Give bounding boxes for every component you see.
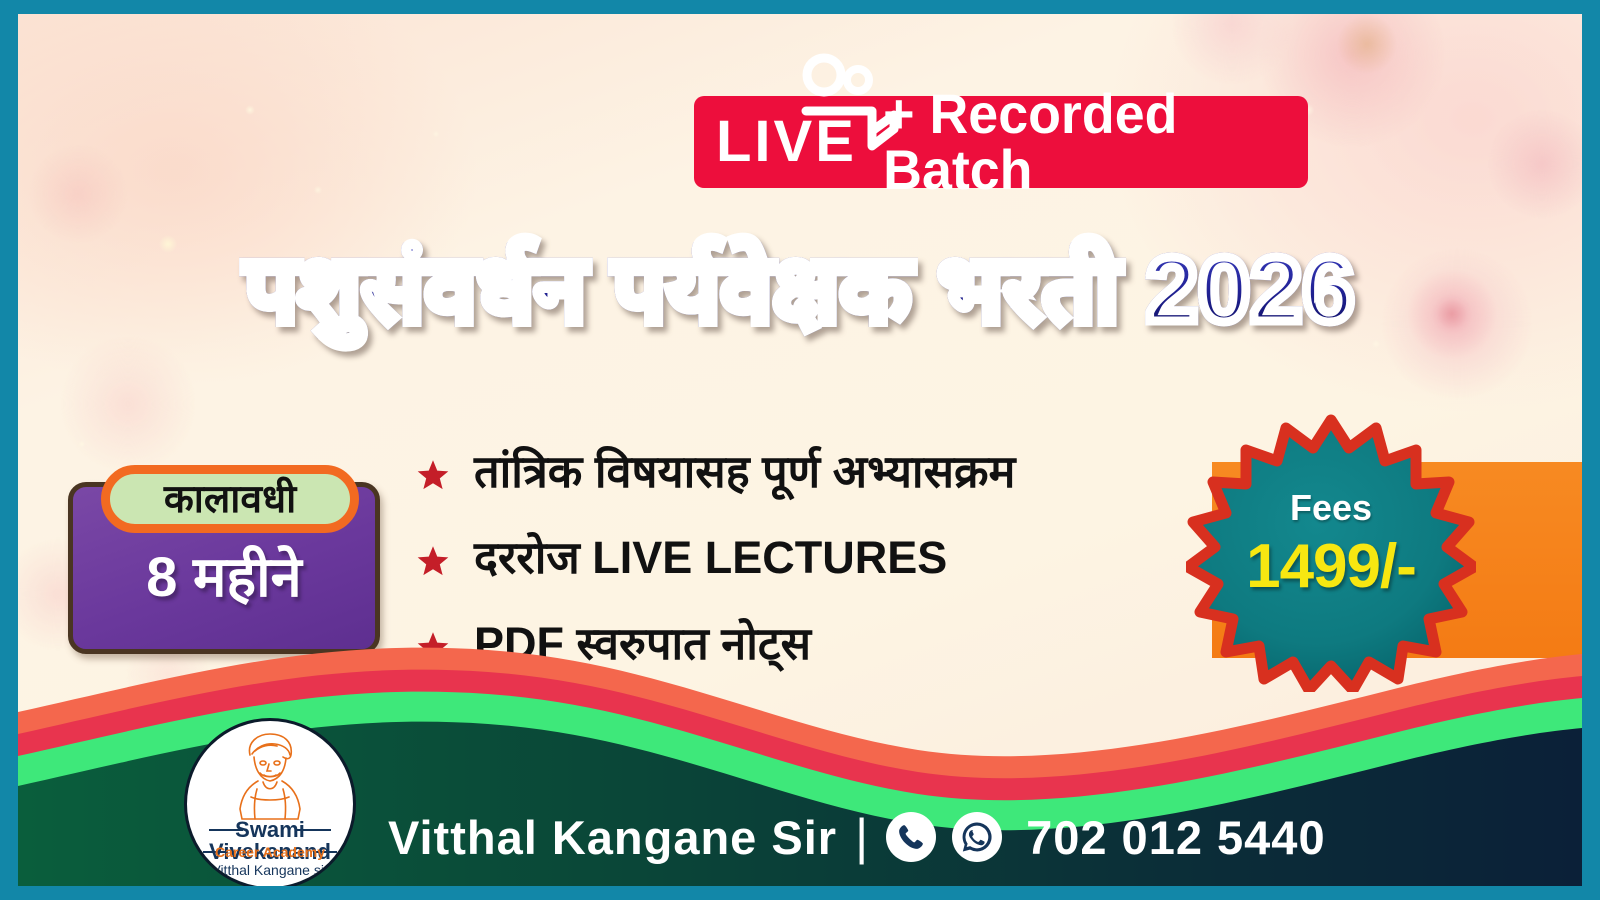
feature-text: दररोज LIVE LECTURES — [474, 532, 947, 584]
banner-canvas: LIVE + Recorded Batch पशुसंवर्धन पर्यवेक… — [18, 14, 1582, 886]
promo-banner: LIVE + Recorded Batch पशुसंवर्धन पर्यवेक… — [0, 0, 1600, 900]
logo-person: Vitthal Kangane sir — [187, 863, 353, 877]
whatsapp-icon — [960, 820, 994, 854]
logo-subtitle: Career Academy — [187, 845, 353, 859]
whatsapp-icon-button[interactable] — [952, 812, 1002, 862]
duration-label: कालावधी — [164, 480, 296, 519]
page-title: पशुसंवर्धन पर्यवेक्षक भरती 2026 — [18, 242, 1582, 339]
star-icon — [416, 458, 450, 492]
phone-icon-button[interactable] — [886, 812, 936, 862]
recorded-batch-label: + Recorded Batch — [883, 86, 1274, 198]
fees-label: Fees — [1186, 490, 1476, 526]
list-item: तांत्रिक विषयासह पूर्ण अभ्यासक्रम — [416, 446, 1176, 498]
footer-contact-bar: Vitthal Kangane Sir | 702 012 5440 — [388, 812, 1326, 862]
star-icon — [416, 544, 450, 578]
presenter-name: Vitthal Kangane Sir — [388, 814, 837, 861]
footer-divider: | — [855, 812, 868, 862]
phone-icon — [896, 822, 926, 852]
duration-label-pill: कालावधी — [101, 465, 359, 533]
live-label: LIVE — [716, 113, 861, 171]
list-item: दररोज LIVE LECTURES — [416, 532, 1176, 584]
phone-number: 702 012 5440 — [1026, 814, 1326, 861]
fees-amount: 1499/- — [1186, 536, 1476, 598]
feature-text: तांत्रिक विषयासह पूर्ण अभ्यासक्रम — [474, 446, 1015, 498]
live-recorded-badge: LIVE + Recorded Batch — [694, 96, 1308, 188]
swami-vivekananda-portrait-icon — [233, 729, 307, 821]
duration-value: 8 महीने — [73, 549, 375, 605]
academy-logo: Swami Vivekanand Career Academy Vitthal … — [184, 718, 356, 886]
